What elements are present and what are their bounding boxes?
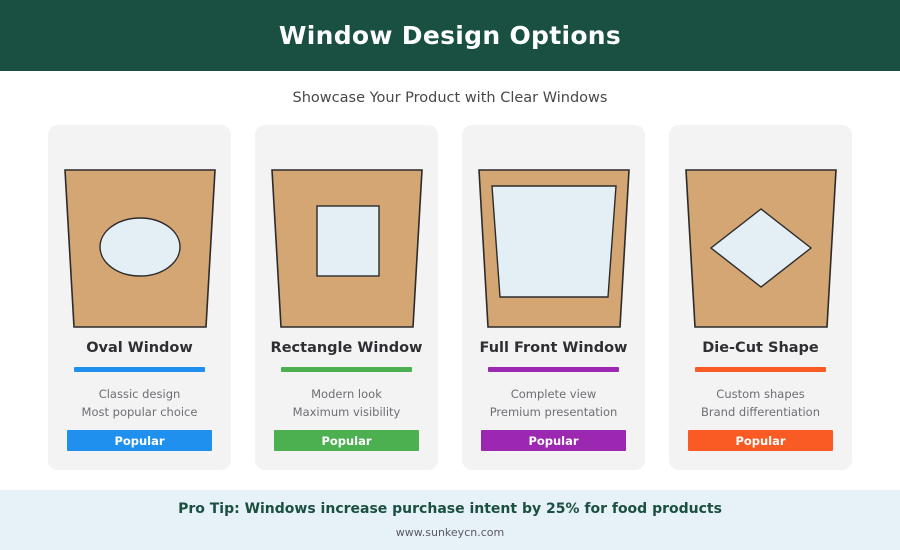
oval-window-shape — [100, 218, 180, 276]
card-title: Die-Cut Shape — [702, 341, 819, 356]
feature-item: Complete view — [490, 385, 618, 403]
window-option-card-die-cut[interactable]: Die-Cut Shape Custom shapes Brand differ… — [669, 125, 852, 470]
accent-bar — [74, 367, 205, 372]
rectangle-window-shape — [317, 206, 379, 276]
bag-illustration-oval — [64, 169, 216, 328]
window-option-card-full-front[interactable]: Full Front Window Complete view Premium … — [462, 125, 645, 470]
page-footer: Pro Tip: Windows increase purchase inten… — [0, 490, 900, 550]
window-option-card-oval[interactable]: Oval Window Classic design Most popular … — [48, 125, 231, 470]
page-header: Window Design Options — [0, 0, 900, 71]
feature-item: Premium presentation — [490, 403, 618, 421]
feature-list: Classic design Most popular choice — [82, 385, 198, 421]
card-title: Oval Window — [86, 341, 193, 356]
popular-badge-button[interactable]: Popular — [688, 430, 833, 451]
bag-illustration-die-cut — [685, 169, 837, 328]
bag-illustration-rectangle — [271, 169, 423, 328]
window-options-grid: Oval Window Classic design Most popular … — [0, 125, 900, 470]
popular-badge-button[interactable]: Popular — [481, 430, 626, 451]
feature-item: Modern look — [293, 385, 401, 403]
feature-item: Classic design — [82, 385, 198, 403]
full-front-window-shape — [492, 186, 616, 297]
feature-item: Maximum visibility — [293, 403, 401, 421]
feature-item: Brand differentiation — [701, 403, 820, 421]
page-subtitle: Showcase Your Product with Clear Windows — [293, 90, 608, 106]
feature-item: Custom shapes — [701, 385, 820, 403]
feature-list: Custom shapes Brand differentiation — [701, 385, 820, 421]
popular-badge-button[interactable]: Popular — [274, 430, 419, 451]
pro-tip-text: Pro Tip: Windows increase purchase inten… — [178, 501, 722, 517]
card-title: Full Front Window — [480, 341, 628, 356]
window-option-card-rectangle[interactable]: Rectangle Window Modern look Maximum vis… — [255, 125, 438, 470]
accent-bar — [281, 367, 412, 372]
feature-item: Most popular choice — [82, 403, 198, 421]
card-title: Rectangle Window — [271, 341, 423, 356]
feature-list: Modern look Maximum visibility — [293, 385, 401, 421]
feature-list: Complete view Premium presentation — [490, 385, 618, 421]
window-design-options-page: Window Design Options Showcase Your Prod… — [0, 0, 900, 550]
popular-badge-button[interactable]: Popular — [67, 430, 212, 451]
bag-illustration-full-front — [478, 169, 630, 328]
accent-bar — [488, 367, 619, 372]
accent-bar — [695, 367, 826, 372]
subtitle-container: Showcase Your Product with Clear Windows — [0, 71, 900, 125]
website-url: www.sunkeycn.com — [396, 526, 504, 539]
page-title: Window Design Options — [279, 21, 621, 50]
